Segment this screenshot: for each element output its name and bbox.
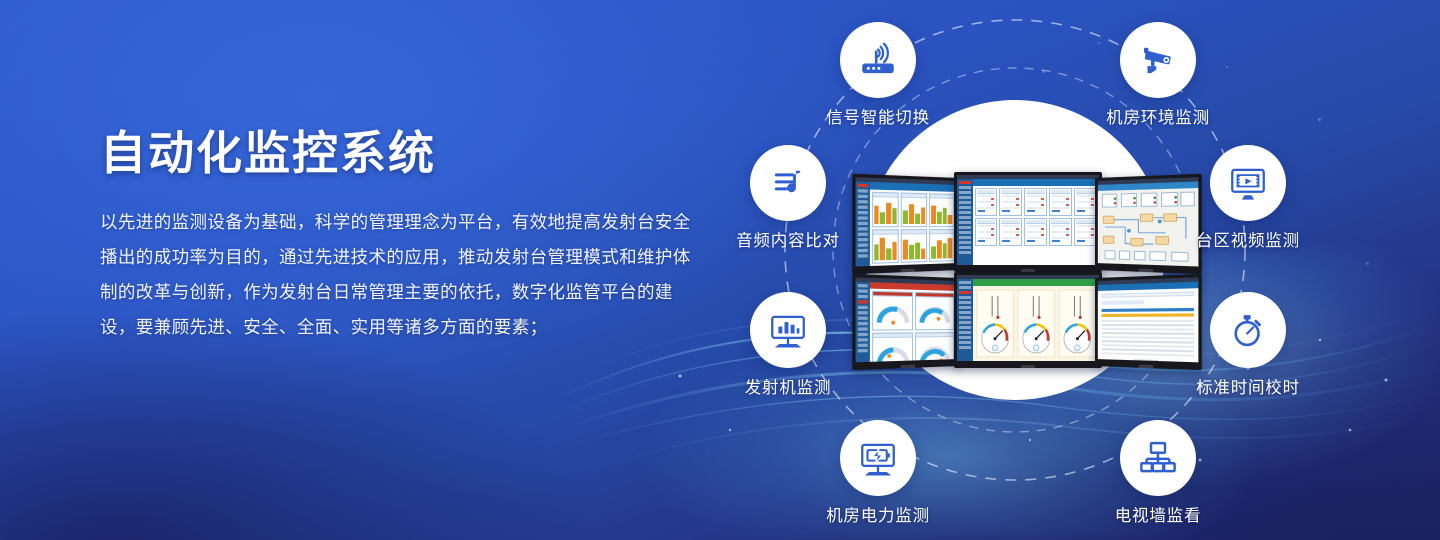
screen-top-left [852, 174, 959, 275]
cctv-camera-icon [1120, 22, 1196, 98]
feature-node-signal-switch[interactable]: 信号智能切换 [840, 22, 916, 98]
audio-note-icon [750, 145, 826, 221]
feature-node-audio-compare[interactable]: 音频内容比对 [750, 145, 826, 221]
banner-description: 以先进的监测设备为基础，科学的管理理念为平台，有效地提高发射台安全播出的成功率为… [100, 206, 700, 346]
screen-top-right [1095, 174, 1202, 275]
feature-node-tv-wall[interactable]: 电视墙监看 [1120, 420, 1196, 496]
feature-label-audio-compare: 音频内容比对 [736, 227, 840, 251]
feature-node-transmitter[interactable]: 发射机监测 [750, 292, 826, 368]
stopwatch-icon [1210, 292, 1286, 368]
router-wifi-icon [840, 22, 916, 98]
feature-diagram: 信号智能切换 机房环境监测 [690, 0, 1440, 540]
feature-node-power-monitor[interactable]: 机房电力监测 [840, 420, 916, 496]
banner-copy: 自动化监控系统 以先进的监测设备为基础，科学的管理理念为平台，有效地提高发射台安… [100, 128, 700, 346]
feature-label-signal-switch: 信号智能切换 [826, 104, 930, 128]
feature-node-video-monitor[interactable]: 台区视频监测 [1210, 145, 1286, 221]
feature-label-time-sync: 标准时间校时 [1196, 374, 1300, 398]
video-wall-graphic [855, 168, 1195, 368]
monitor-play-icon [1210, 145, 1286, 221]
feature-node-time-sync[interactable]: 标准时间校时 [1210, 292, 1286, 368]
screen-bottom-right [1095, 274, 1202, 370]
video-wall-icon [1120, 420, 1196, 496]
feature-label-video-monitor: 台区视频监测 [1196, 227, 1300, 251]
feature-label-room-env: 机房环境监测 [1106, 104, 1210, 128]
banner-stage: 自动化监控系统 以先进的监测设备为基础，科学的管理理念为平台，有效地提高发射台安… [0, 0, 1440, 540]
feature-label-power-monitor: 机房电力监测 [826, 502, 930, 526]
page-title: 自动化监控系统 [100, 128, 700, 180]
feature-label-transmitter: 发射机监测 [745, 374, 832, 398]
screen-bottom-left [852, 274, 959, 370]
monitor-barchart-icon [750, 292, 826, 368]
monitor-power-icon [840, 420, 916, 496]
screen-top-center [954, 172, 1102, 272]
feature-label-tv-wall: 电视墙监看 [1115, 502, 1202, 526]
feature-node-room-env[interactable]: 机房环境监测 [1120, 22, 1196, 98]
screen-bottom-center [954, 272, 1102, 368]
